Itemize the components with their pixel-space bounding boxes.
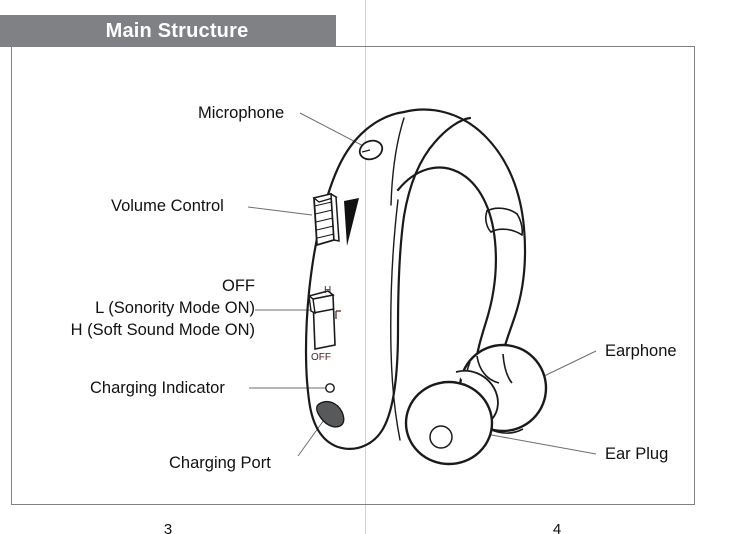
mode-line-high: H (Soft Sound Mode ON) (0, 319, 255, 341)
tube-collar-bottom (491, 229, 522, 235)
page-number-right: 4 (537, 521, 577, 534)
microphone-icon (357, 138, 385, 163)
microphone-port (357, 138, 385, 163)
charging-port-opening (317, 402, 344, 427)
ear-hook-outer (404, 110, 525, 354)
leader-microphone (300, 113, 371, 150)
volume-control-wheel (314, 194, 359, 246)
page-number-left: 3 (148, 521, 188, 534)
shell-seam-top (391, 118, 404, 205)
callout-label-microphone: Microphone (198, 103, 284, 123)
callout-label-earphone: Earphone (605, 341, 677, 361)
ear-plug-sound-outlet (430, 426, 452, 448)
page-title: Main Structure (0, 15, 336, 47)
mode-line-low: L (Sonority Mode ON) (0, 297, 255, 319)
leader-earphone (540, 351, 596, 378)
tube-collar-top (487, 208, 517, 214)
mode-switch (309, 291, 341, 349)
volume-level-triangle (344, 198, 359, 246)
ear-plug-dome (406, 382, 492, 464)
leader-ear-plug (486, 434, 596, 454)
mode-line-off: OFF (0, 275, 255, 297)
charging-indicator-led (326, 384, 334, 392)
callout-label-charging-port: Charging Port (169, 453, 271, 473)
ear-hook-inner (398, 168, 496, 356)
callout-label-charging-indicator: Charging Indicator (90, 378, 225, 398)
mode-switch-body (313, 295, 335, 349)
callout-label-mode-switch: OFF L (Sonority Mode ON) H (Soft Sound M… (0, 275, 255, 341)
callout-label-ear-plug: Ear Plug (605, 444, 668, 464)
switch-marking-off: OFF (311, 352, 331, 363)
section-header-bar: Main Structure (0, 15, 336, 47)
ear-plug-assembly (406, 371, 498, 464)
mode-switch-l-tick (336, 311, 341, 319)
manual-page: Main Structure (0, 0, 731, 534)
switch-marking-h: H (324, 285, 331, 296)
callout-label-volume-control: Volume Control (111, 196, 224, 216)
leader-volume-control (248, 207, 312, 215)
